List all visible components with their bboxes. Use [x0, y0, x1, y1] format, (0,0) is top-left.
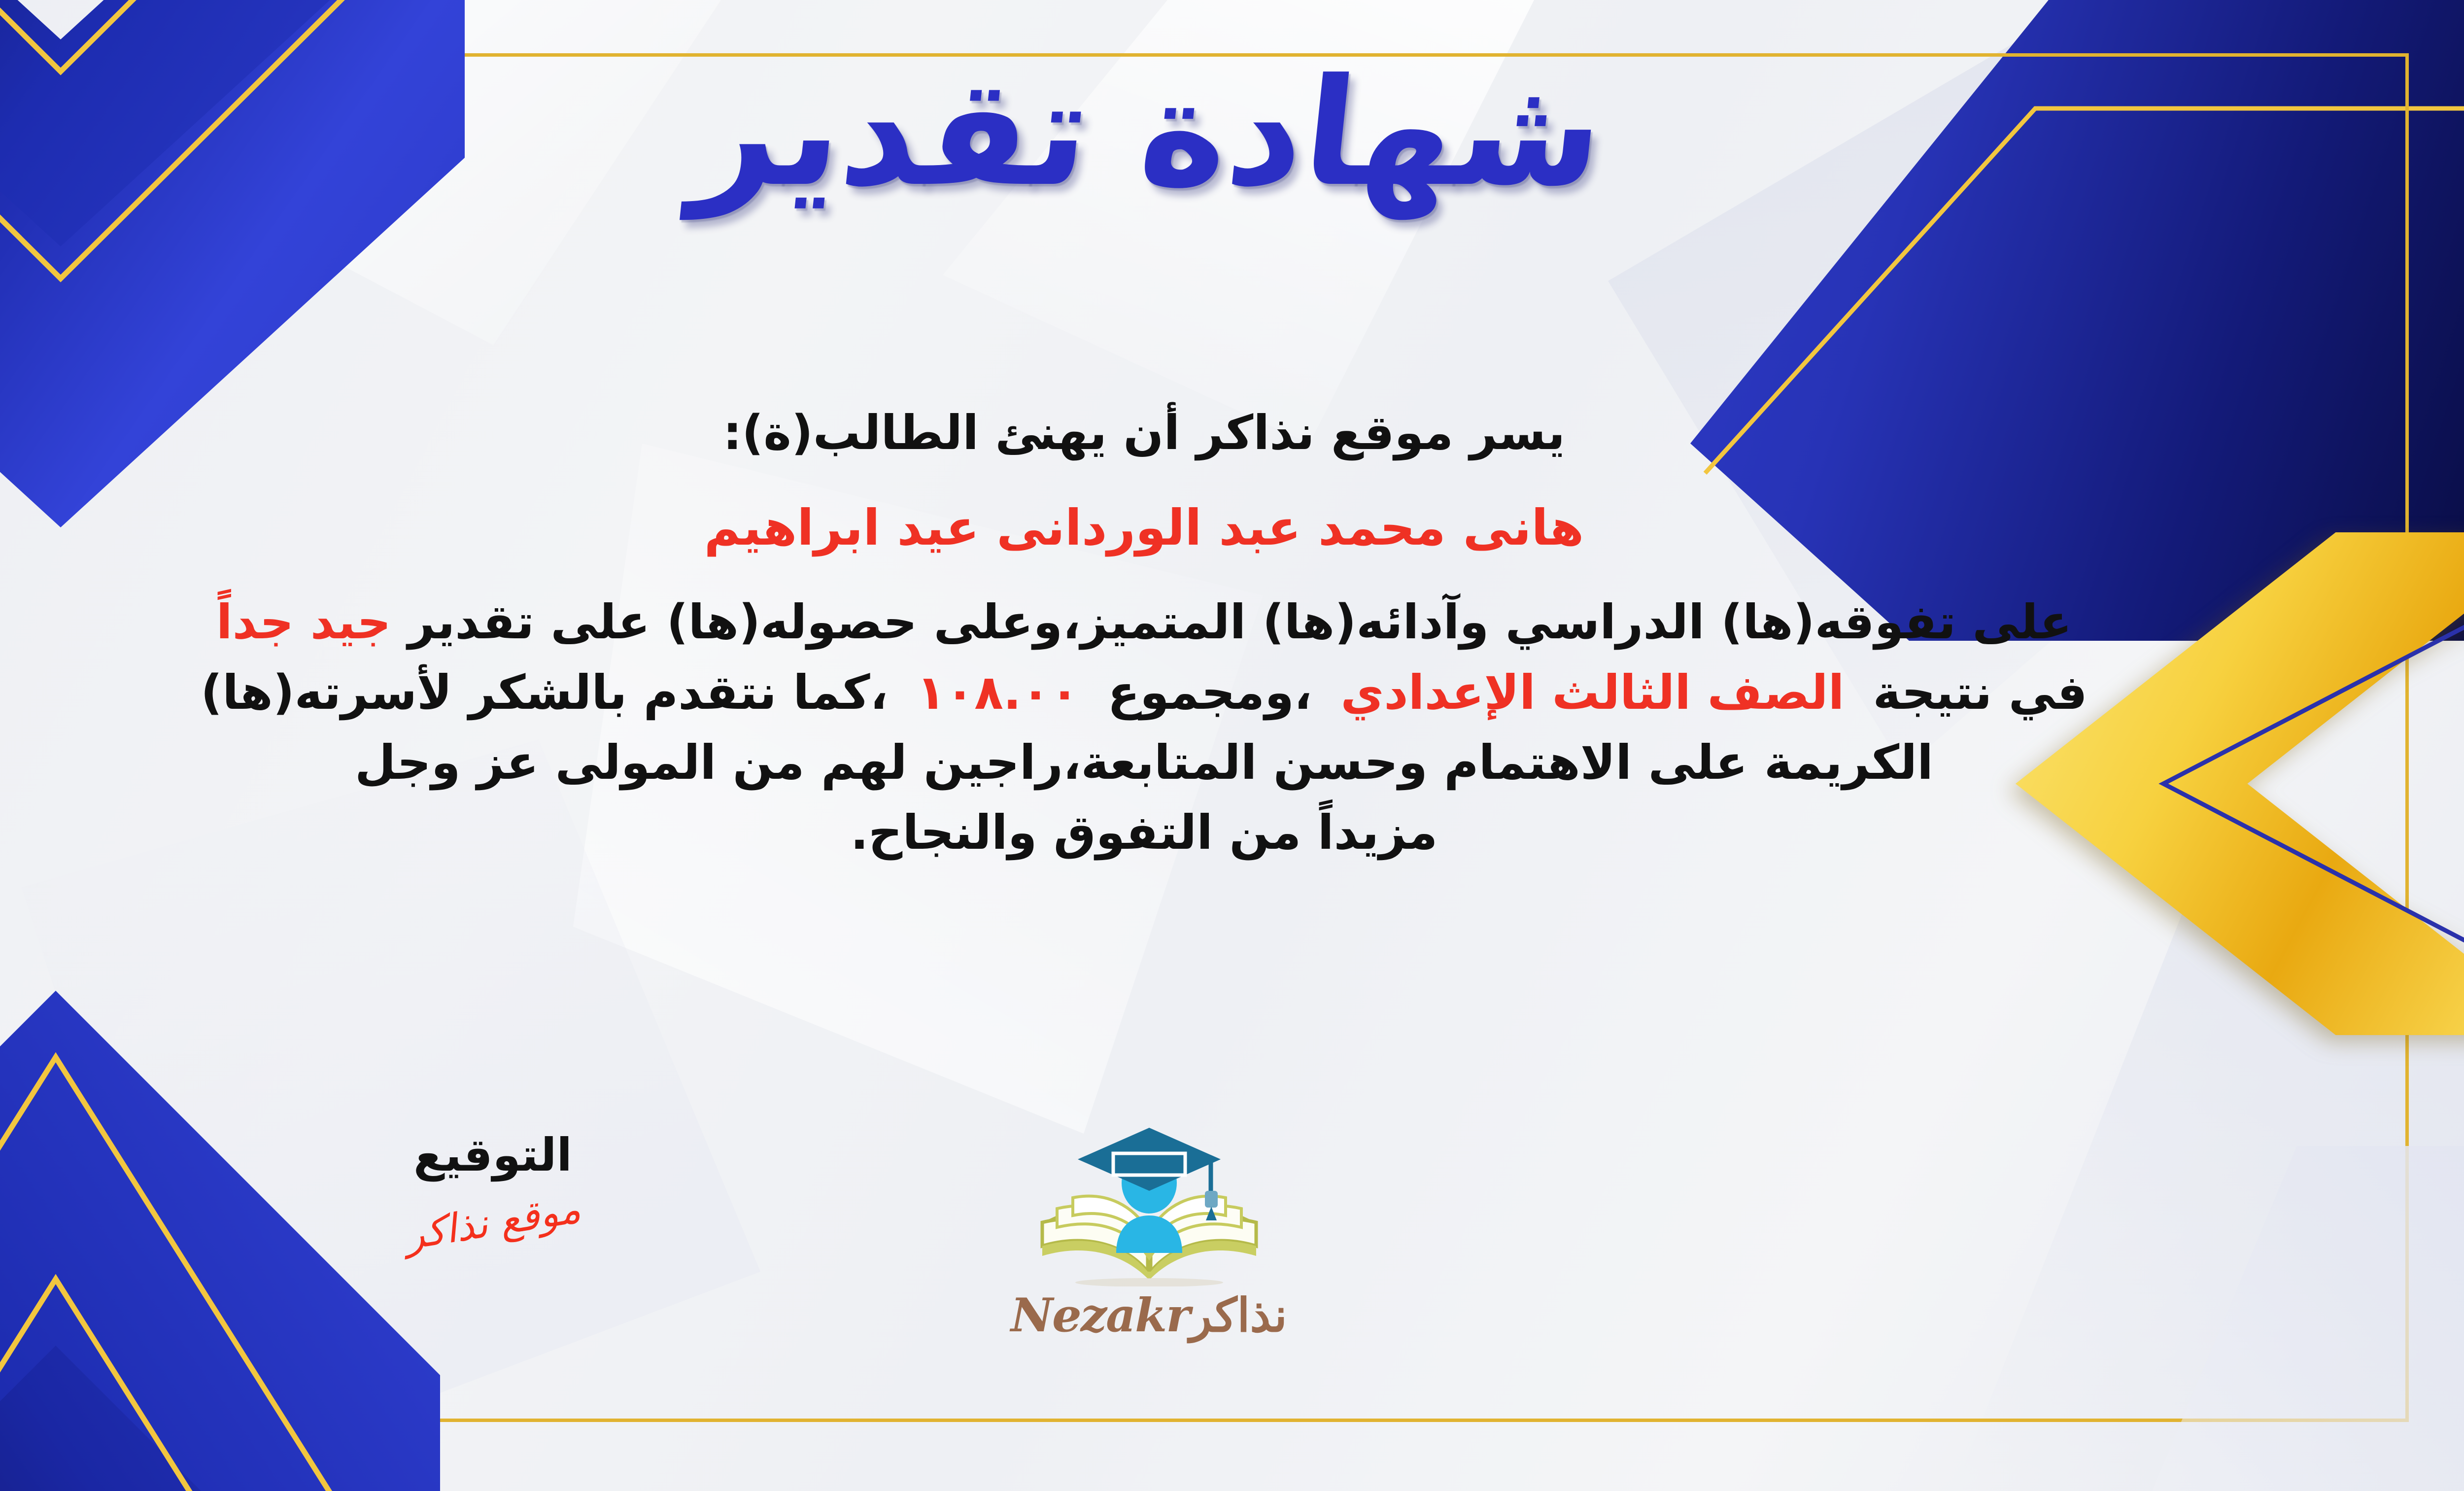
signature-mark: موقع نذاكر [402, 1185, 583, 1258]
signature-block: التوقيع موقع نذاكر [335, 1129, 650, 1245]
closing-line: مزيداً من التفوق والنجاح. [0, 799, 2336, 866]
family-thanks-line: الكريمة على الاهتمام وحسن المتابعة،راجين… [0, 729, 2336, 796]
greeting-line: يسر موقع نذاكر أن يهنئ الطالب(ة): [0, 399, 2336, 466]
grade-value: جيد جداً [216, 594, 391, 650]
certificate-title-text: شهادة تقدير [687, 59, 1611, 207]
certificate-title: شهادة تقدير [0, 59, 2464, 207]
certificate-body: يسر موقع نذاكر أن يهنئ الطالب(ة): هانى م… [0, 399, 2336, 869]
brand-wordmark: نذاكرNezakr [962, 1288, 1336, 1343]
achievement-text: على تفوقه(ها) الدراسي وآدائه(ها) المتميز… [408, 594, 2072, 650]
result-prefix: في نتيجة [1873, 665, 2087, 720]
signature-label: التوقيع [335, 1129, 650, 1181]
achievement-line: على تفوقه(ها) الدراسي وآدائه(ها) المتميز… [0, 589, 2336, 656]
graduate-over-open-book-icon [1033, 1124, 1265, 1286]
total-prefix: ،ومجموع [1107, 665, 1312, 720]
certificate-footer: التوقيع موقع نذاكر [0, 1129, 2464, 1444]
student-name: هانى محمد عبد الوردانى عيد ابراهيم [0, 493, 2336, 563]
class-level-value: الصف الثالث الإعدادي [1340, 665, 1844, 720]
total-score-value: ١٠٨.٠٠ [917, 665, 1079, 720]
brand-logo: نذاكرNezakr [962, 1124, 1336, 1343]
result-line: في نتيجةالصف الثالث الإعدادي،ومجموع١٠٨.٠… [0, 659, 2336, 726]
brand-name-latin: Nezakr [1011, 1288, 1190, 1343]
brand-name-arabic: نذاكر [1190, 1288, 1287, 1343]
thanks-text: ،كما نتقدم بالشكر لأسرته(ها) [201, 665, 888, 720]
certificate-page: شهادة تقدير يسر موقع نذاكر أن يهنئ الطال… [0, 0, 2464, 1491]
